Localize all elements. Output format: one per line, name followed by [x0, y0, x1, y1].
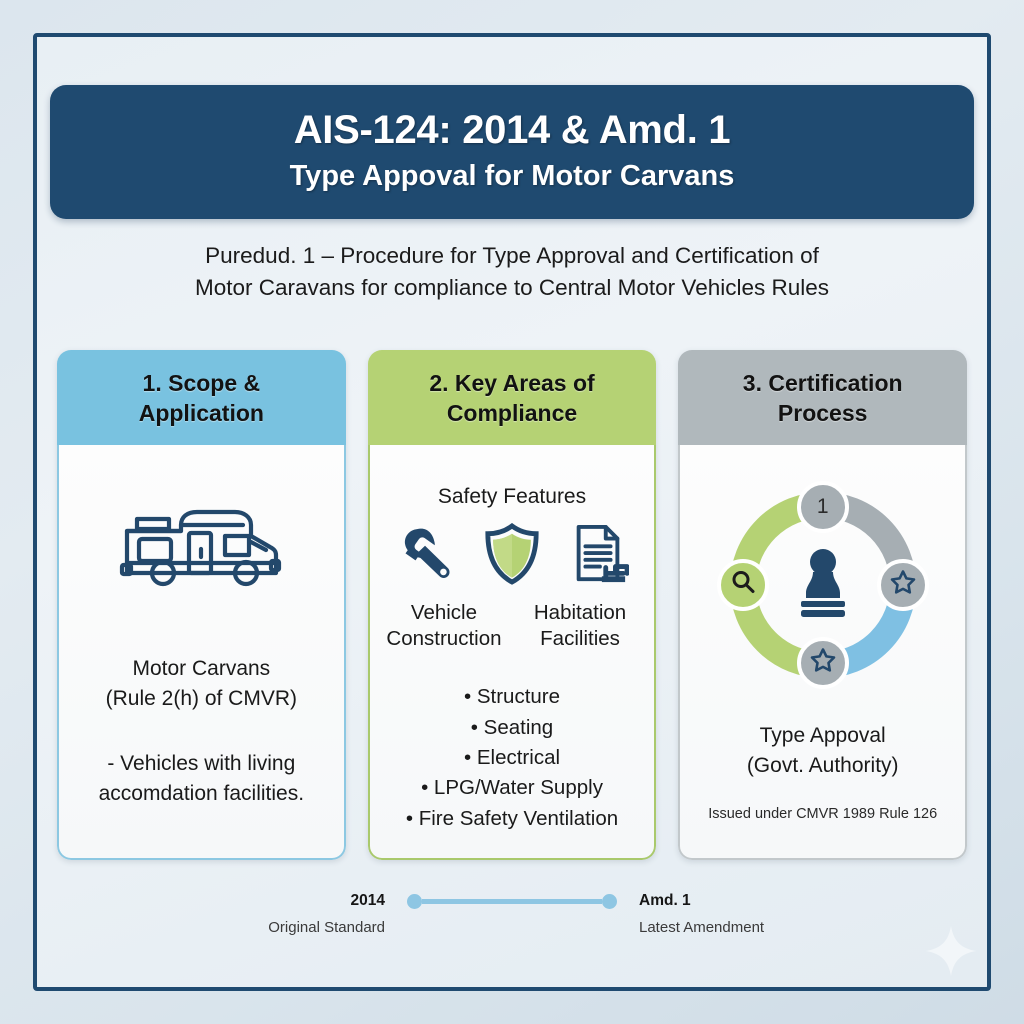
card-key-areas-compliance[interactable]: 2. Key Areas of Compliance Safety Featur…	[368, 350, 657, 860]
card-2-section-label: Safety Features	[438, 485, 586, 509]
certification-cycle-diagram: 1	[723, 485, 923, 685]
search-icon	[730, 569, 756, 601]
description-line-2: Motor Caravans for compliance to Central…	[97, 272, 927, 304]
cards-container: 1. Scope & Application	[50, 350, 974, 860]
cycle-node-1-label: 1	[817, 495, 829, 519]
infographic-page: AIS-124: 2014 & Amd. 1 Type Appoval for …	[0, 0, 1024, 1024]
caption-habitation-facilities: Habitation Facilities	[521, 600, 639, 652]
compliance-bullet-list: • Structure • Seating • Electrical • LPG…	[406, 682, 618, 834]
wrench-icon	[395, 523, 457, 590]
list-item: • LPG/Water Supply	[406, 773, 618, 803]
star-icon	[809, 646, 837, 680]
card-3-heading-line-1: 3. Certification	[688, 369, 957, 399]
title-banner: AIS-124: 2014 & Amd. 1 Type Appoval for …	[50, 85, 974, 219]
shield-icon	[483, 523, 541, 590]
cycle-node-certificate[interactable]	[797, 637, 849, 689]
card-2-body: Safety Features	[368, 445, 657, 860]
document-description: Puredud. 1 – Procedure for Type Approval…	[97, 240, 927, 304]
list-item: • Fire Safety Ventilation	[406, 804, 618, 834]
cycle-node-approval[interactable]	[877, 559, 929, 611]
list-item: • Electrical	[406, 743, 618, 773]
card-2-heading-line-1: 2. Key Areas of	[378, 369, 647, 399]
caption-right-line-2: Facilities	[521, 626, 639, 652]
list-item: • Seating	[406, 713, 618, 743]
cycle-node-inspection[interactable]	[717, 559, 769, 611]
timeline-end-sublabel: Latest Amendment	[639, 919, 809, 936]
card-3-heading-line-2: Process	[688, 399, 957, 429]
list-item: • Structure	[406, 682, 618, 712]
timeline-start-dot[interactable]	[407, 894, 422, 909]
page-subtitle-heading: Type Appoval for Motor Carvans	[70, 160, 954, 193]
timeline-end-label: Amd. 1	[639, 892, 809, 910]
caption-right-line-1: Habitation	[521, 600, 639, 626]
card-1-primary-text: Motor Carvans (Rule 2(h) of CMVR)	[106, 654, 297, 714]
caption-left-line-2: Construction	[385, 626, 503, 652]
card-1-header: 1. Scope & Application	[57, 350, 346, 445]
timeline-start: 2014 Original Standard	[215, 892, 395, 936]
caption-vehicle-construction: Vehicle Construction	[385, 600, 503, 652]
card-3-header: 3. Certification Process	[678, 350, 967, 445]
motorhome-icon	[113, 503, 289, 600]
card-1-heading-line-2: Application	[67, 399, 336, 429]
card-1-text2-line-2: accomdation facilities.	[99, 779, 304, 809]
version-timeline: 2014 Original Standard Amd. 1 Latest Ame…	[50, 892, 974, 936]
compliance-caption-row: Vehicle Construction Habitation Faciliti…	[384, 600, 641, 652]
card-3-primary-text: Type Appoval (Govt. Authority)	[747, 721, 899, 781]
page-title: AIS-124: 2014 & Amd. 1	[70, 107, 954, 154]
card-3-body: 1	[678, 445, 967, 860]
card-3-text1-line-2: (Govt. Authority)	[747, 751, 899, 781]
rubber-stamp-icon	[789, 545, 857, 625]
card-1-text1-line-2: (Rule 2(h) of CMVR)	[106, 684, 297, 714]
card-1-text2-line-1: - Vehicles with living	[99, 749, 304, 779]
timeline-connector-line	[422, 899, 602, 904]
compliance-icon-row	[395, 523, 629, 590]
card-scope-application[interactable]: 1. Scope & Application	[57, 350, 346, 860]
card-1-text1-line-1: Motor Carvans	[106, 654, 297, 684]
card-1-body: Motor Carvans (Rule 2(h) of CMVR) - Vehi…	[57, 445, 346, 860]
document-tap-icon	[567, 523, 629, 590]
timeline-track	[407, 894, 617, 935]
card-2-heading-line-2: Compliance	[378, 399, 647, 429]
caption-left-line-1: Vehicle	[385, 600, 503, 626]
card-3-text1-line-1: Type Appoval	[747, 721, 899, 751]
card-3-footnote: Issued under CMVR 1989 Rule 126	[708, 806, 937, 822]
timeline-end: Amd. 1 Latest Amendment	[629, 892, 809, 936]
description-line-1: Puredud. 1 – Procedure for Type Approval…	[97, 240, 927, 272]
timeline-end-dot[interactable]	[602, 894, 617, 909]
card-certification-process[interactable]: 3. Certification Process 1	[678, 350, 967, 860]
card-1-secondary-text: - Vehicles with living accomdation facil…	[99, 749, 304, 809]
star-icon	[889, 568, 917, 602]
timeline-start-sublabel: Original Standard	[215, 919, 385, 936]
cycle-node-1[interactable]: 1	[797, 481, 849, 533]
sparkle-decoration	[924, 924, 978, 978]
card-1-heading-line-1: 1. Scope &	[67, 369, 336, 399]
timeline-start-label: 2014	[215, 892, 385, 910]
card-2-header: 2. Key Areas of Compliance	[368, 350, 657, 445]
